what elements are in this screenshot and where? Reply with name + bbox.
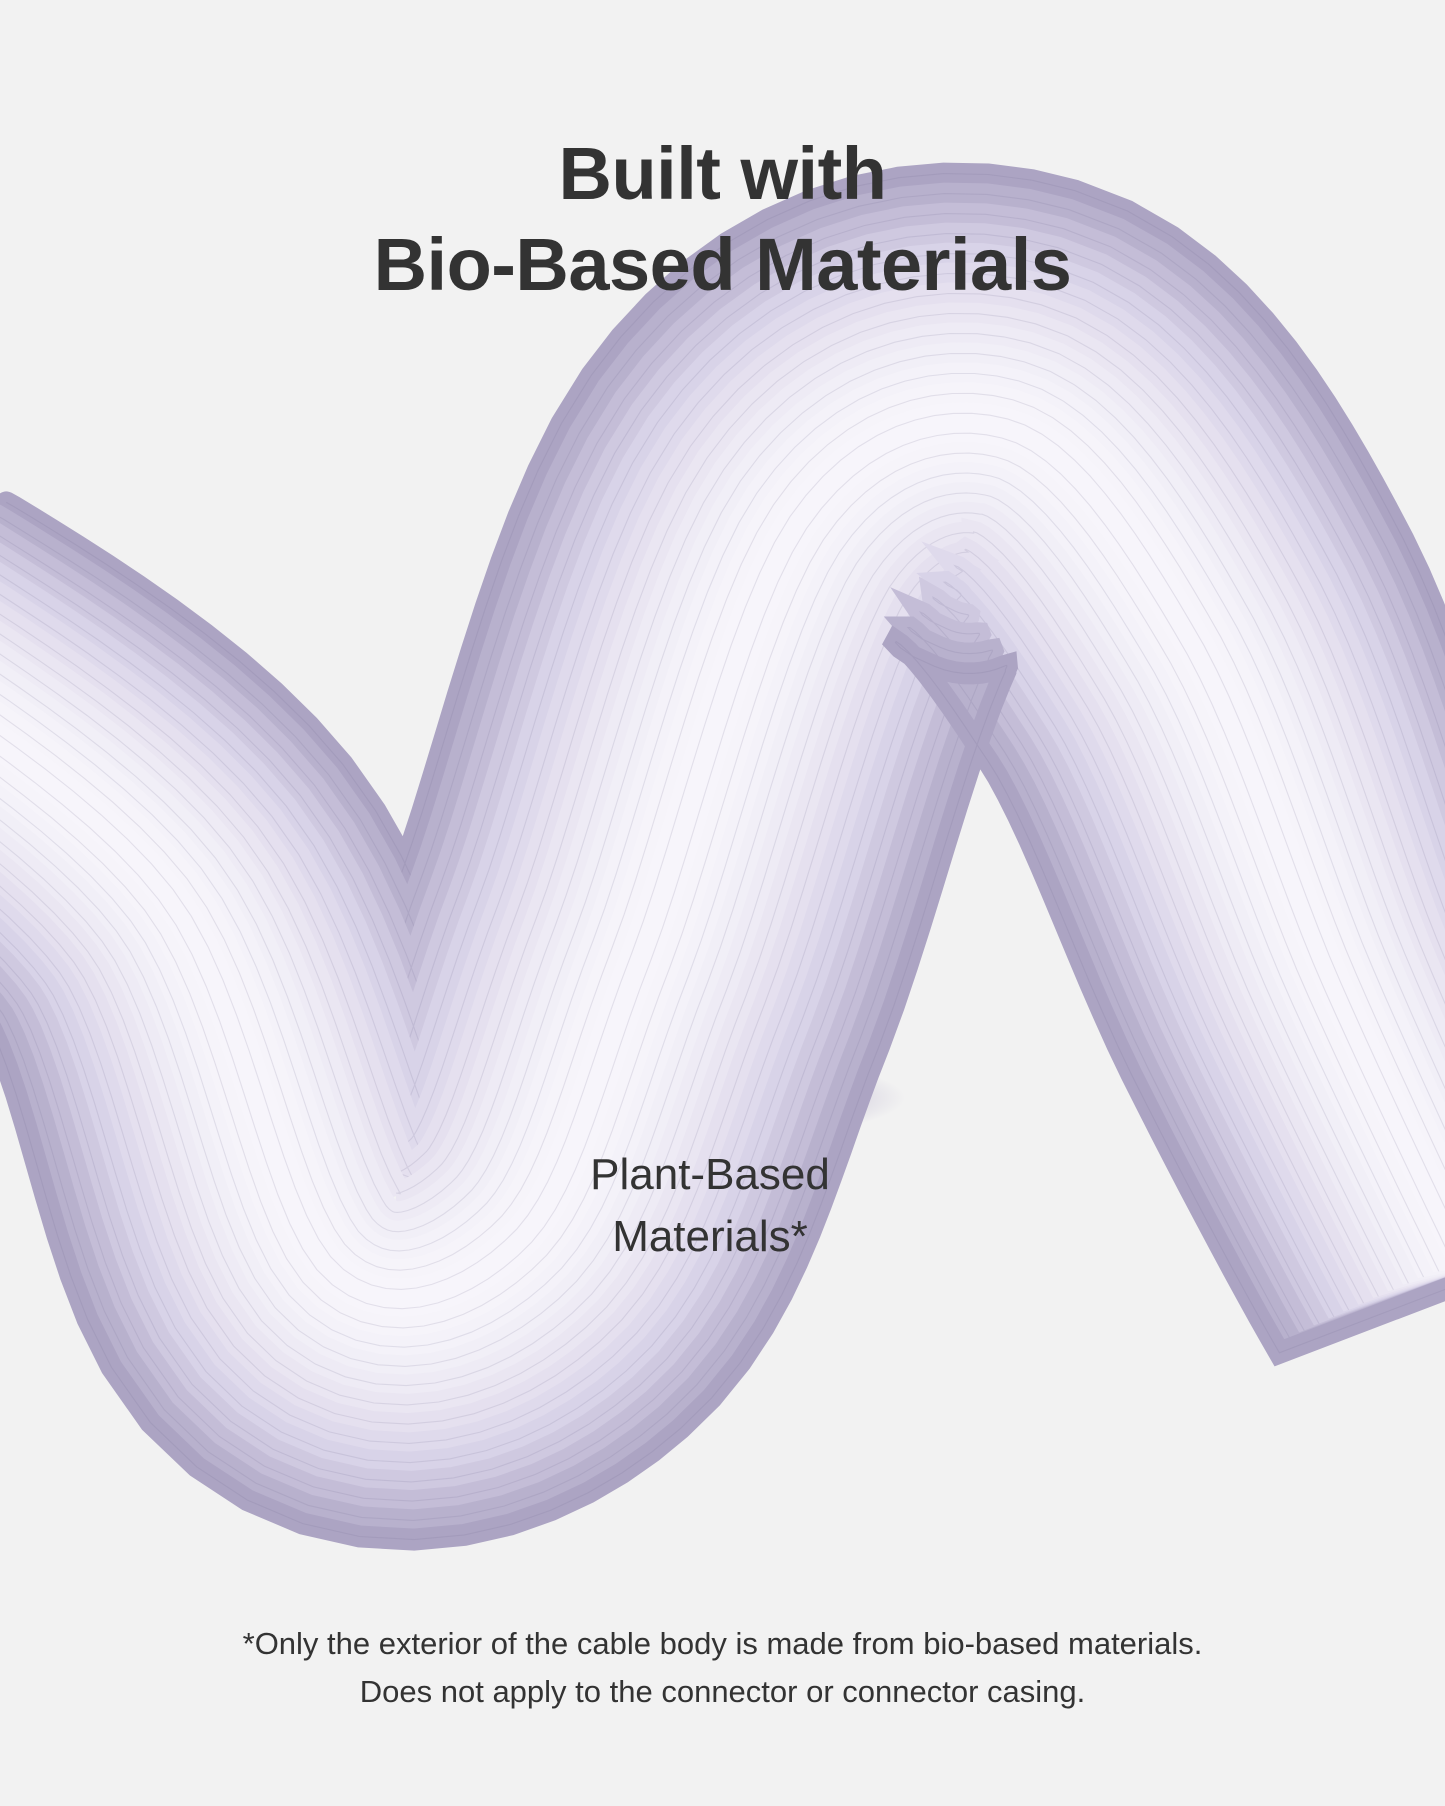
caption-line-1: Plant-Based <box>440 1144 980 1206</box>
headline-line-1: Built with <box>0 128 1445 220</box>
footnote-line-1: *Only the exterior of the cable body is … <box>0 1620 1445 1668</box>
footnote: *Only the exterior of the cable body is … <box>0 1620 1445 1716</box>
braided-cable <box>0 174 1445 1540</box>
page-title: Built with Bio-Based Materials <box>0 128 1445 312</box>
footnote-line-2: Does not apply to the connector or conne… <box>0 1668 1445 1716</box>
bio-based-materials-promo: Built with Bio-Based Materials Plant-Bas… <box>0 0 1445 1806</box>
headline-line-2: Bio-Based Materials <box>0 219 1445 311</box>
caption-line-2: Materials* <box>440 1206 980 1268</box>
pellet-caption: Plant-Based Materials* <box>440 1144 980 1269</box>
